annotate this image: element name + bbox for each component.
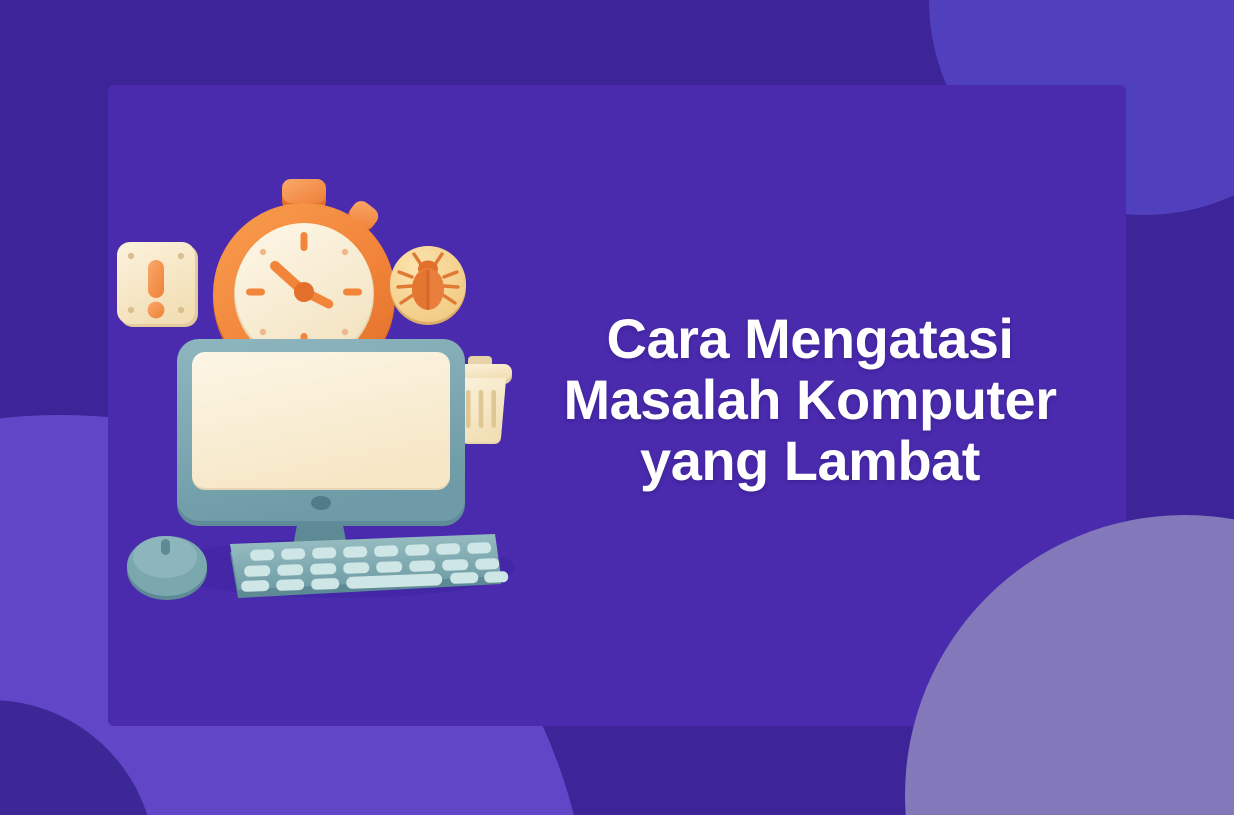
bug-icon bbox=[390, 246, 466, 325]
monitor-icon bbox=[177, 339, 465, 571]
page-title: Cara Mengatasi Masalah Komputer yang Lam… bbox=[500, 308, 1120, 491]
title-line-3: yang Lambat bbox=[500, 430, 1120, 491]
mouse-icon bbox=[127, 536, 207, 600]
thumbnail-canvas: Cara Mengatasi Masalah Komputer yang Lam… bbox=[0, 0, 1234, 815]
warning-card-icon bbox=[117, 242, 198, 327]
title-line-2: Masalah Komputer bbox=[500, 369, 1120, 430]
slow-computer-illustration bbox=[110, 170, 520, 610]
title-line-1: Cara Mengatasi bbox=[500, 308, 1120, 369]
